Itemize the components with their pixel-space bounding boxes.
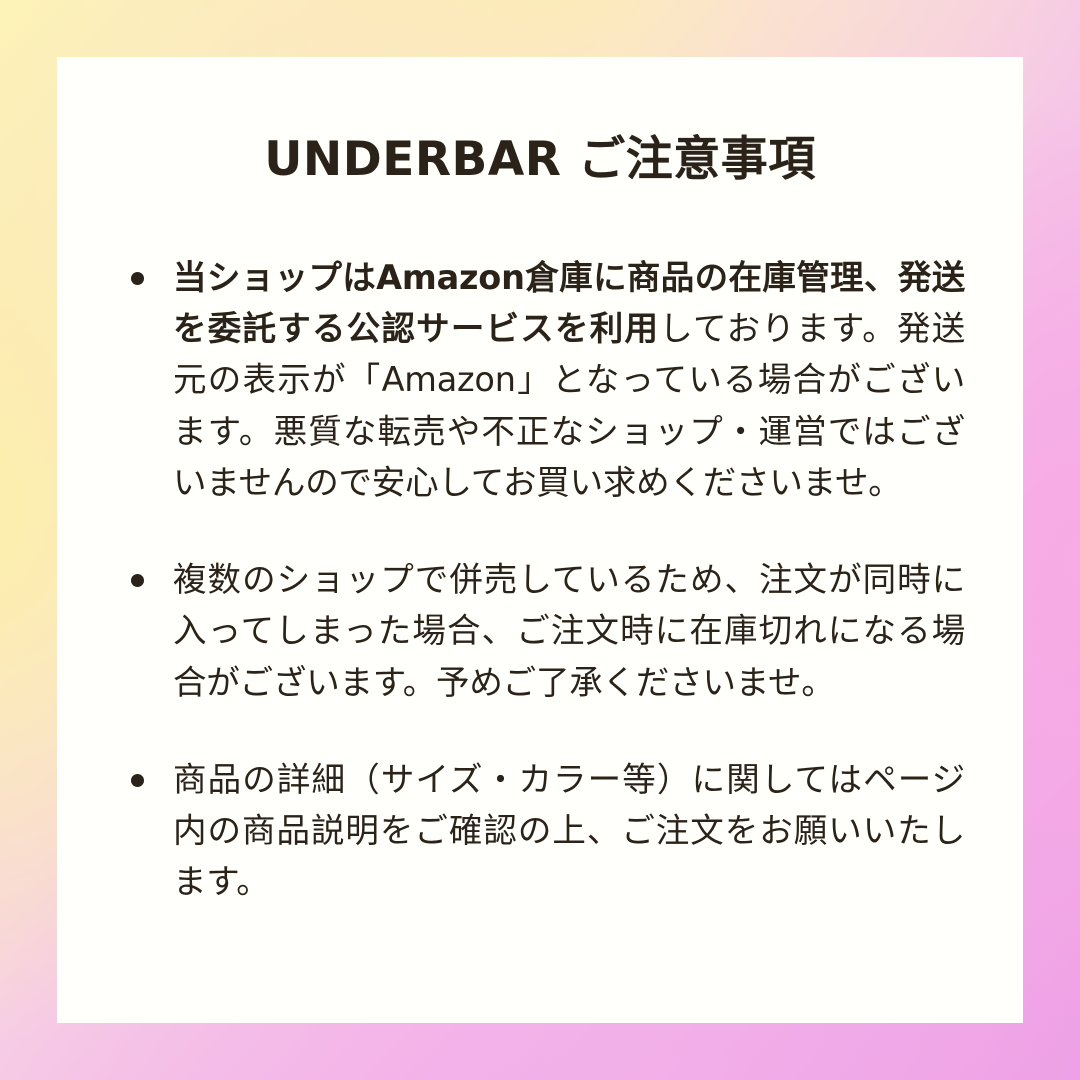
notice-card: UNDERBAR ご注意事項 当ショップはAmazon倉庫に商品の在庫管理、発送… [57, 57, 1023, 1023]
list-item-text: 複数のショップで併売しているため、注文が同時に入ってしまった場合、ご注文時に在庫… [173, 560, 965, 702]
page-title: UNDERBAR ご注意事項 [115, 131, 965, 190]
bullet-icon [131, 272, 144, 285]
list-item: 複数のショップで併売しているため、注文が同時に入ってしまった場合、ご注文時に在庫… [115, 554, 965, 708]
bullet-icon [131, 774, 144, 787]
list-item-text: 商品の詳細（サイズ・カラー等）に関してはページ内の商品説明をご確認の上、ご注文を… [173, 760, 965, 902]
list-item: 当ショップはAmazon倉庫に商品の在庫管理、発送を委託する公認サービスを利用し… [115, 252, 965, 508]
gradient-background: UNDERBAR ご注意事項 当ショップはAmazon倉庫に商品の在庫管理、発送… [0, 0, 1080, 1080]
notice-list: 当ショップはAmazon倉庫に商品の在庫管理、発送を委託する公認サービスを利用し… [115, 252, 965, 908]
bullet-icon [131, 574, 144, 587]
list-item: 商品の詳細（サイズ・カラー等）に関してはページ内の商品説明をご確認の上、ご注文を… [115, 754, 965, 908]
